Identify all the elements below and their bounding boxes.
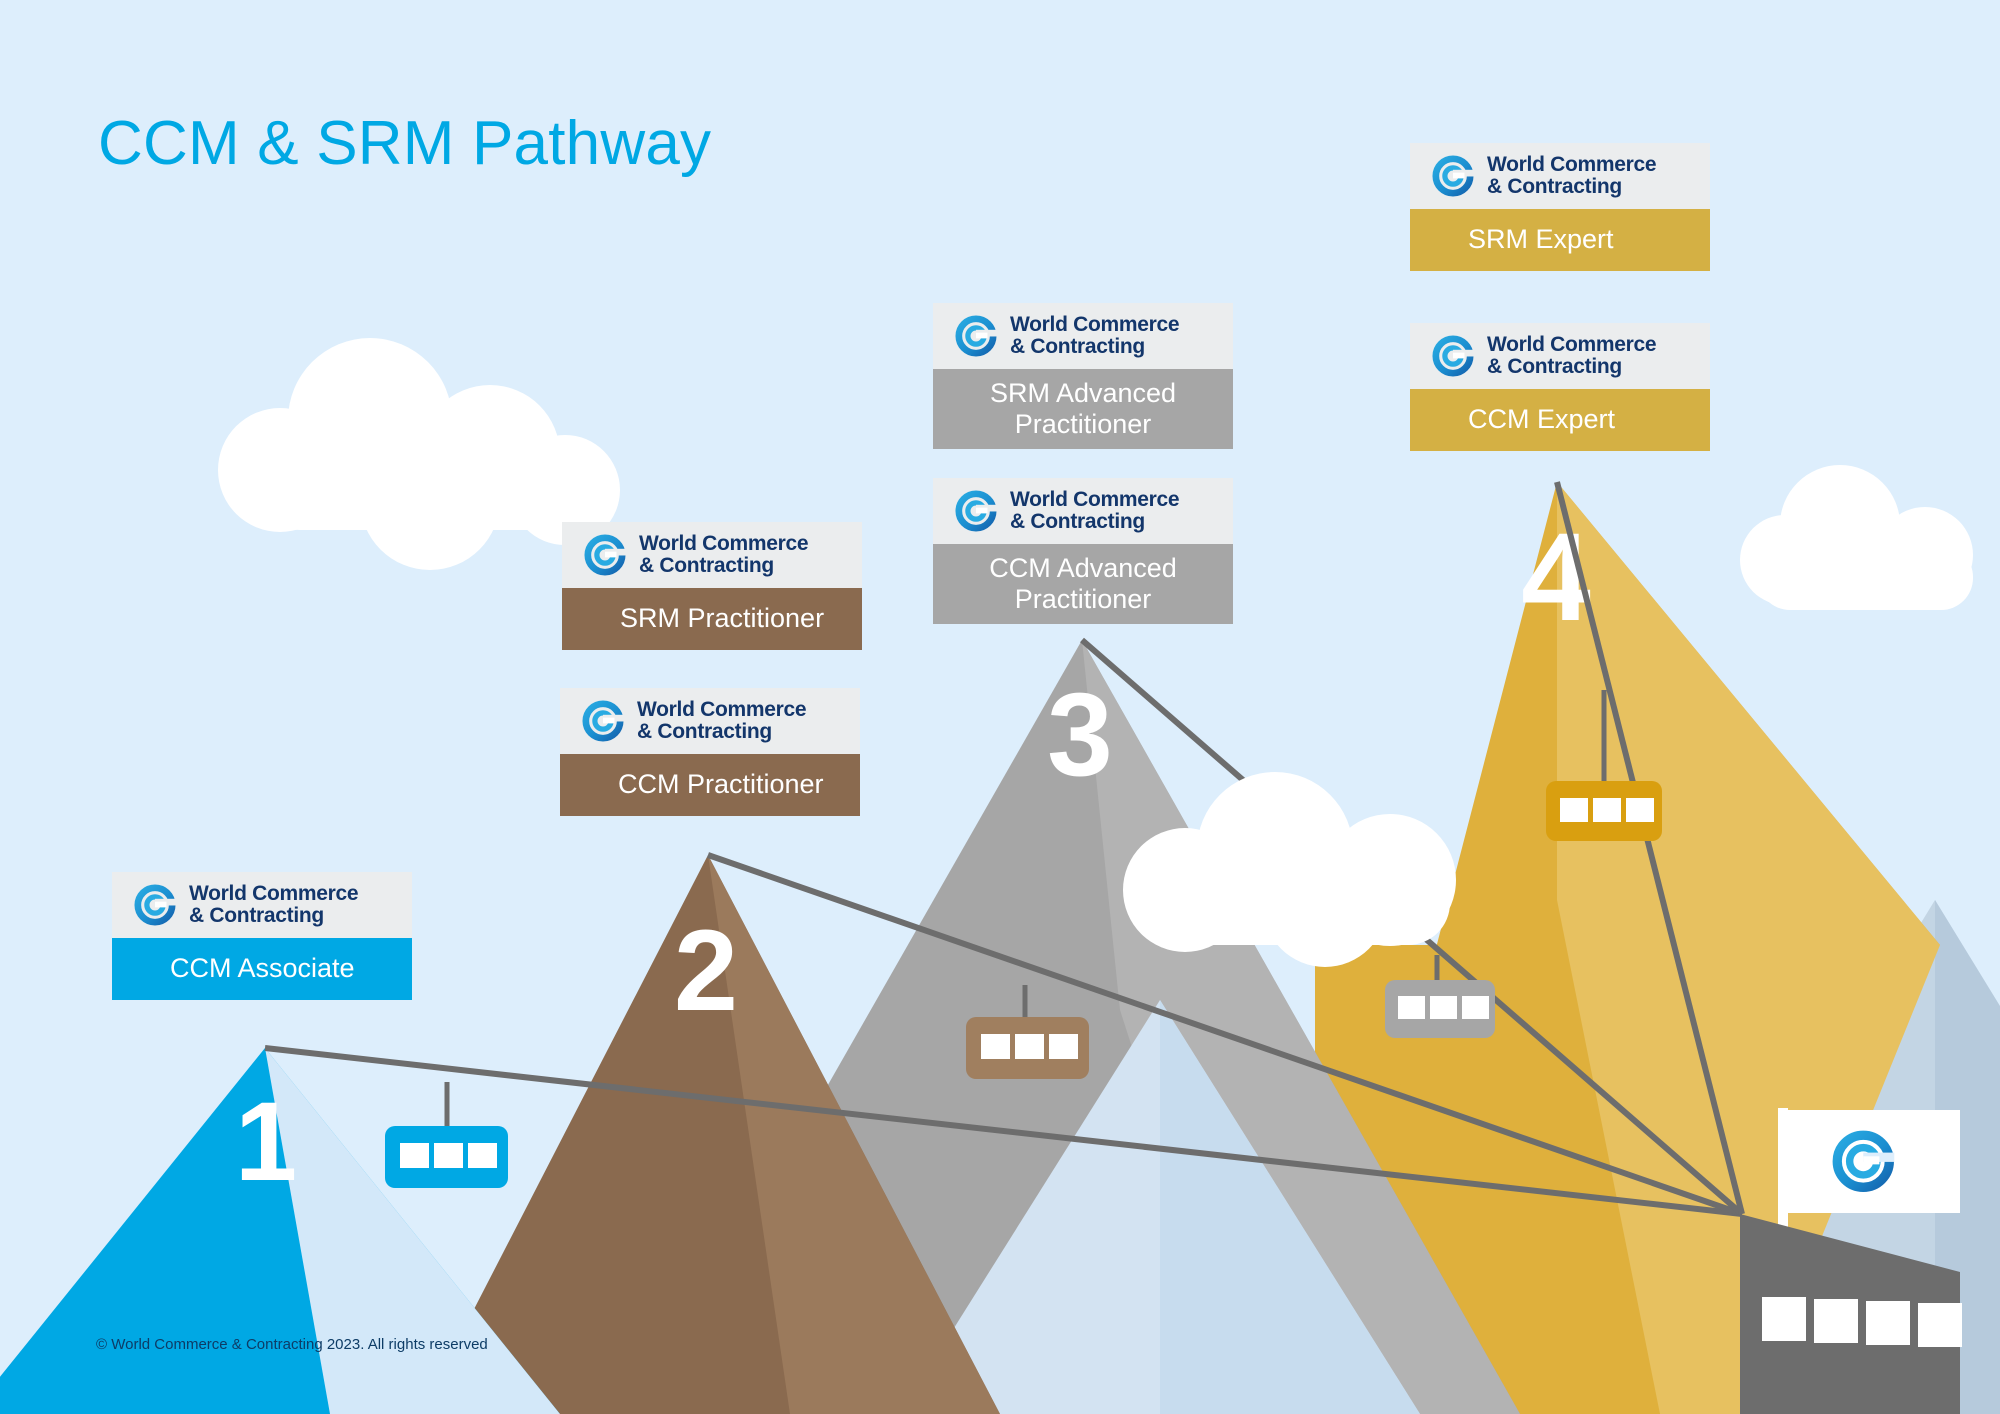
card-logo-bar: World Commerce & Contracting: [1410, 323, 1710, 389]
cable-car-1: [385, 1126, 508, 1188]
lodge-window: [1814, 1299, 1858, 1343]
certification-card-ccm-advanced-practitioner[interactable]: World Commerce & Contracting CCM Advance…: [933, 478, 1233, 624]
cable-car-4: [1546, 781, 1662, 841]
mountain-2-number: 2: [674, 907, 738, 1035]
certification-card-ccm-expert[interactable]: World Commerce & Contracting CCM Expert: [1410, 323, 1710, 451]
certification-label: SRM Expert: [1410, 209, 1710, 271]
certification-card-ccm-associate[interactable]: World Commerce & Contracting CCM Associa…: [112, 872, 412, 1000]
wcc-circle-logo-icon: [582, 700, 624, 742]
certification-label: SRM Advanced Practitioner: [933, 369, 1233, 449]
wcc-circle-logo-icon: [955, 490, 997, 532]
mountain-3-number: 3: [1047, 669, 1113, 801]
brand-name: World Commerce & Contracting: [1010, 314, 1179, 359]
card-logo-bar: World Commerce & Contracting: [112, 872, 412, 938]
brand-line-1: World Commerce: [1010, 314, 1179, 336]
lodge-window: [1762, 1297, 1806, 1341]
cable-car-3: [1385, 980, 1495, 1038]
lodge-window: [1866, 1301, 1910, 1345]
certification-label-line-2: Practitioner: [1015, 584, 1152, 615]
brand-name: World Commerce & Contracting: [1487, 154, 1656, 199]
mountain-1-number: 1: [235, 1079, 297, 1204]
wcc-circle-logo-icon: [584, 534, 626, 576]
wcc-circle-logo-icon: [1432, 155, 1474, 197]
certification-card-srm-practitioner[interactable]: World Commerce & Contracting SRM Practit…: [562, 522, 862, 650]
card-logo-bar: World Commerce & Contracting: [1410, 143, 1710, 209]
certification-label-line-2: Practitioner: [1015, 409, 1152, 440]
brand-line-1: World Commerce: [1487, 334, 1656, 356]
brand-line-2: & Contracting: [1010, 336, 1179, 358]
brand-name: World Commerce & Contracting: [189, 883, 358, 928]
certification-label-line-1: SRM Advanced: [990, 378, 1176, 409]
certification-label: CCM Associate: [112, 938, 412, 1000]
wcc-circle-logo-icon: [134, 884, 176, 926]
brand-line-1: World Commerce: [637, 699, 806, 721]
brand-name: World Commerce & Contracting: [639, 533, 808, 578]
brand-line-2: & Contracting: [639, 555, 808, 577]
brand-line-1: World Commerce: [639, 533, 808, 555]
page-title: CCM & SRM Pathway: [98, 108, 711, 179]
certification-card-ccm-practitioner[interactable]: World Commerce & Contracting CCM Practit…: [560, 688, 860, 816]
copyright-notice: © World Commerce & Contracting 2023. All…: [96, 1336, 488, 1353]
certification-card-srm-expert[interactable]: World Commerce & Contracting SRM Expert: [1410, 143, 1710, 271]
card-logo-bar: World Commerce & Contracting: [933, 303, 1233, 369]
certification-label: CCM Practitioner: [560, 754, 860, 816]
wcc-circle-logo-icon: [955, 315, 997, 357]
certification-label: CCM Expert: [1410, 389, 1710, 451]
brand-name: World Commerce & Contracting: [637, 699, 806, 744]
wcc-circle-logo-icon: [1432, 335, 1474, 377]
certification-label: CCM Advanced Practitioner: [933, 544, 1233, 624]
certification-label-line-1: CCM Advanced: [989, 553, 1177, 584]
brand-line-1: World Commerce: [1010, 489, 1179, 511]
lodge-window: [1918, 1303, 1962, 1347]
brand-line-2: & Contracting: [189, 905, 358, 927]
cable-car-2: [966, 1017, 1089, 1079]
certification-card-srm-advanced-practitioner[interactable]: World Commerce & Contracting SRM Advance…: [933, 303, 1233, 449]
brand-line-2: & Contracting: [1487, 176, 1656, 198]
card-logo-bar: World Commerce & Contracting: [933, 478, 1233, 544]
card-logo-bar: World Commerce & Contracting: [560, 688, 860, 754]
brand-line-2: & Contracting: [1487, 356, 1656, 378]
brand-line-1: World Commerce: [189, 883, 358, 905]
brand-line-2: & Contracting: [1010, 511, 1179, 533]
ccm-srm-pathway-infographic: 4 3 2 1: [0, 0, 2000, 1414]
brand-line-1: World Commerce: [1487, 154, 1656, 176]
card-logo-bar: World Commerce & Contracting: [562, 522, 862, 588]
brand-name: World Commerce & Contracting: [1487, 334, 1656, 379]
brand-line-2: & Contracting: [637, 721, 806, 743]
brand-name: World Commerce & Contracting: [1010, 489, 1179, 534]
certification-label: SRM Practitioner: [562, 588, 862, 650]
